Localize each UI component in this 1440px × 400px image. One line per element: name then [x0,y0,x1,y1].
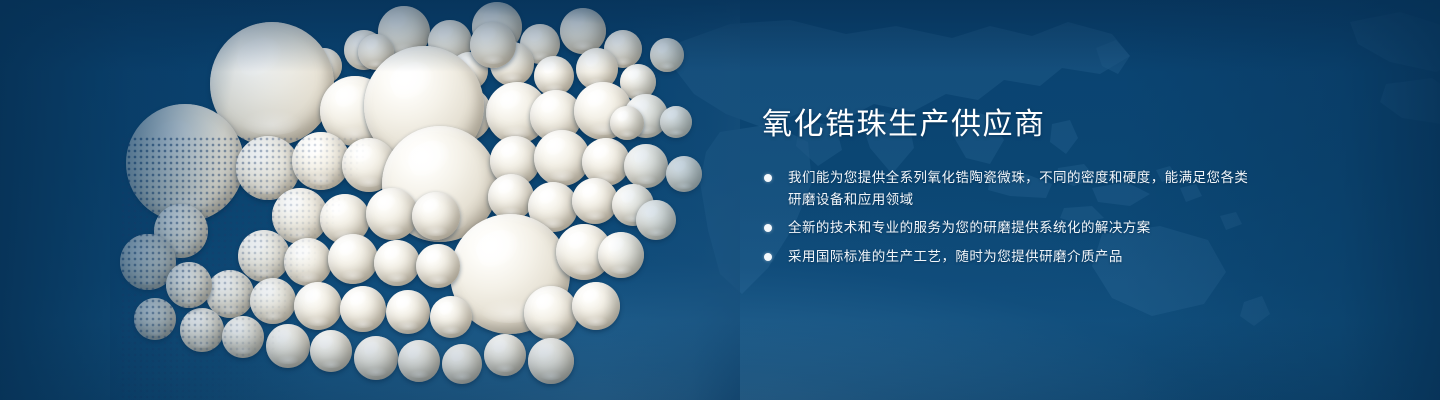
list-item: 全新的技术和专业的服务为您的研磨提供系统化的解决方案 [762,217,1262,239]
list-item-text: 全新的技术和专业的服务为您的研磨提供系统化的解决方案 [788,220,1151,235]
list-item-text: 采用国际标准的生产工艺，随时为您提供研磨介质产品 [788,249,1123,264]
page-title: 氧化锆珠生产供应商 [762,105,1262,145]
bullet-dot-icon [764,253,772,261]
list-item: 采用国际标准的生产工艺，随时为您提供研磨介质产品 [762,246,1262,268]
list-item: 我们能为您提供全系列氧化锆陶瓷微珠，不同的密度和硬度，能满足您各类研磨设备和应用… [762,167,1262,210]
feature-list: 我们能为您提供全系列氧化锆陶瓷微珠，不同的密度和硬度，能满足您各类研磨设备和应用… [762,167,1262,267]
banner-copy: 氧化锆珠生产供应商 我们能为您提供全系列氧化锆陶瓷微珠，不同的密度和硬度，能满足… [762,105,1262,267]
bullet-dot-icon [764,224,772,232]
hero-banner: 氧化锆珠生产供应商 我们能为您提供全系列氧化锆陶瓷微珠，不同的密度和硬度，能满足… [0,0,1440,400]
list-item-text: 我们能为您提供全系列氧化锆陶瓷微珠，不同的密度和硬度，能满足您各类研磨设备和应用… [788,170,1248,207]
bullet-dot-icon [764,174,772,182]
